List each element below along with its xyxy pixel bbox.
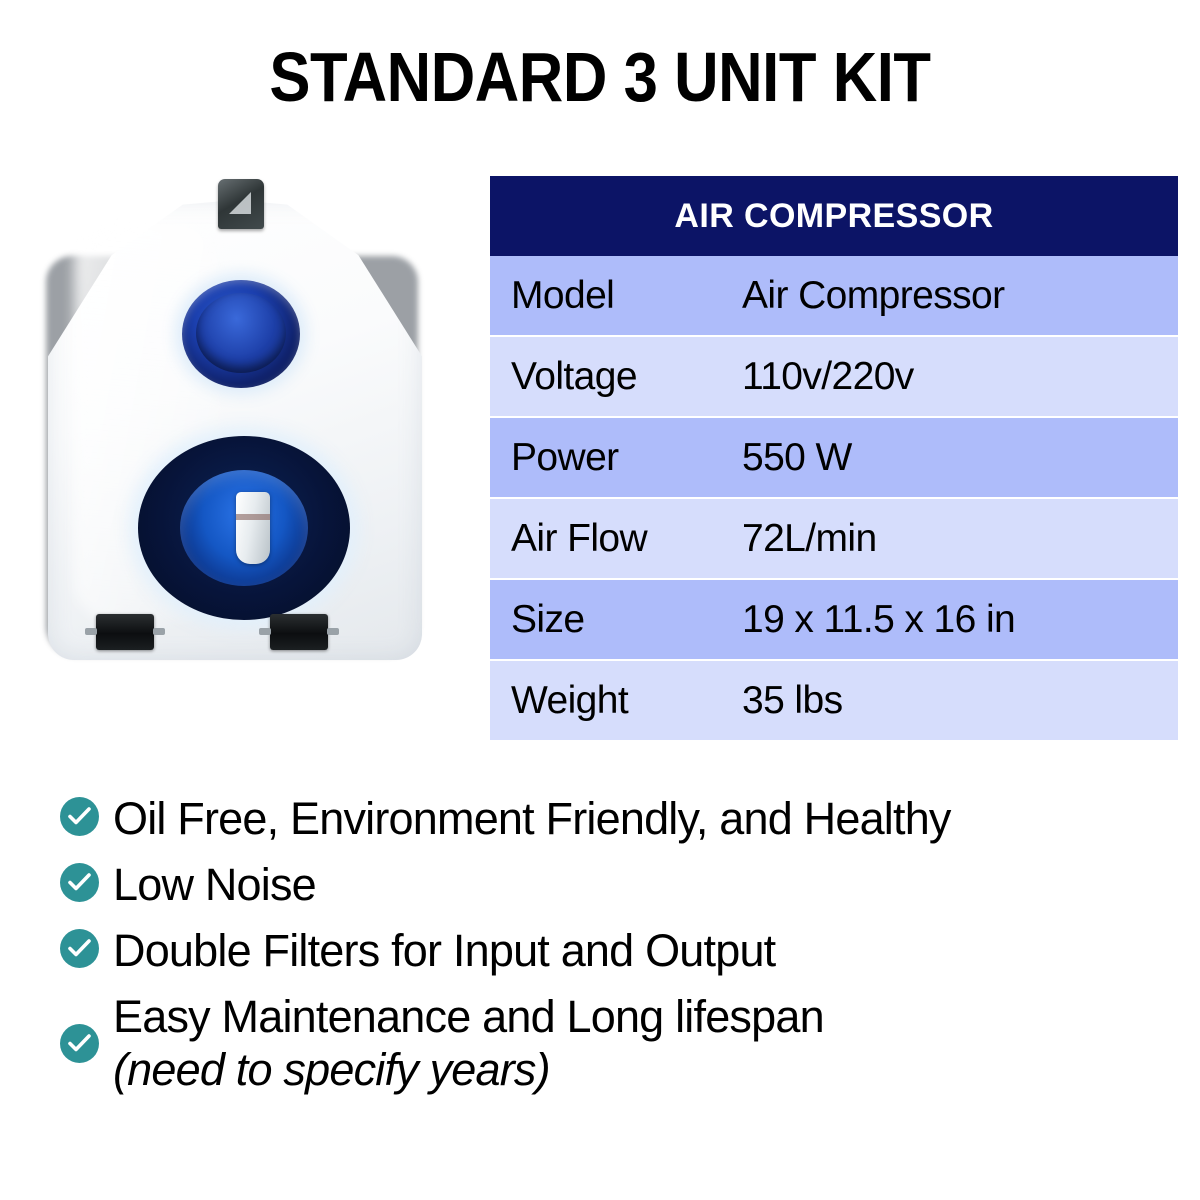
feature-list: Oil Free, Environment Friendly, and Heal… (60, 792, 1170, 1109)
table-row: Power 550 W (490, 418, 1178, 499)
outlet-port-left (96, 614, 154, 650)
check-circle-icon (60, 929, 99, 968)
spec-key: Model (490, 275, 742, 317)
spec-value: 72L/min (742, 518, 1178, 560)
list-item: Low Noise (60, 858, 1170, 911)
spec-table-header: AIR COMPRESSOR (490, 176, 1178, 256)
feature-sublabel: (need to specify years) (113, 1044, 550, 1095)
spec-key: Voltage (490, 356, 742, 398)
pressure-gauge-icon (182, 280, 300, 388)
list-item: Oil Free, Environment Friendly, and Heal… (60, 792, 1170, 845)
spec-key: Size (490, 599, 742, 641)
feature-label: Low Noise (113, 858, 316, 911)
spec-key: Weight (490, 680, 742, 722)
table-row: Model Air Compressor (490, 256, 1178, 337)
filter-bowl (138, 436, 350, 620)
check-circle-icon (60, 797, 99, 836)
spec-value: 110v/220v (742, 356, 1178, 398)
outlet-port-right (270, 614, 328, 650)
spec-value: 35 lbs (742, 680, 1178, 722)
page-title: STANDARD 3 UNIT KIT (72, 38, 1128, 116)
table-row: Voltage 110v/220v (490, 337, 1178, 418)
table-row: Size 19 x 11.5 x 16 in (490, 580, 1178, 661)
check-circle-icon (60, 1024, 99, 1063)
filter-cartridge (236, 492, 270, 564)
feature-label: Oil Free, Environment Friendly, and Heal… (113, 792, 951, 845)
feature-label: Double Filters for Input and Output (113, 924, 775, 977)
spec-key: Air Flow (490, 518, 742, 560)
check-circle-icon (60, 863, 99, 902)
table-row: Weight 35 lbs (490, 661, 1178, 740)
feature-label: Easy Maintenance and Long lifespan (113, 991, 824, 1042)
spec-key: Power (490, 437, 742, 479)
spec-value: 550 W (742, 437, 1178, 479)
handle-tab (218, 179, 264, 229)
spec-value: Air Compressor (742, 275, 1178, 317)
table-row: Air Flow 72L/min (490, 499, 1178, 580)
spec-table: AIR COMPRESSOR Model Air Compressor Volt… (490, 176, 1178, 740)
spec-value: 19 x 11.5 x 16 in (742, 599, 1178, 641)
list-item: Easy Maintenance and Long lifespan (need… (60, 990, 1170, 1096)
list-item: Double Filters for Input and Output (60, 924, 1170, 977)
product-image-air-compressor (22, 168, 462, 713)
